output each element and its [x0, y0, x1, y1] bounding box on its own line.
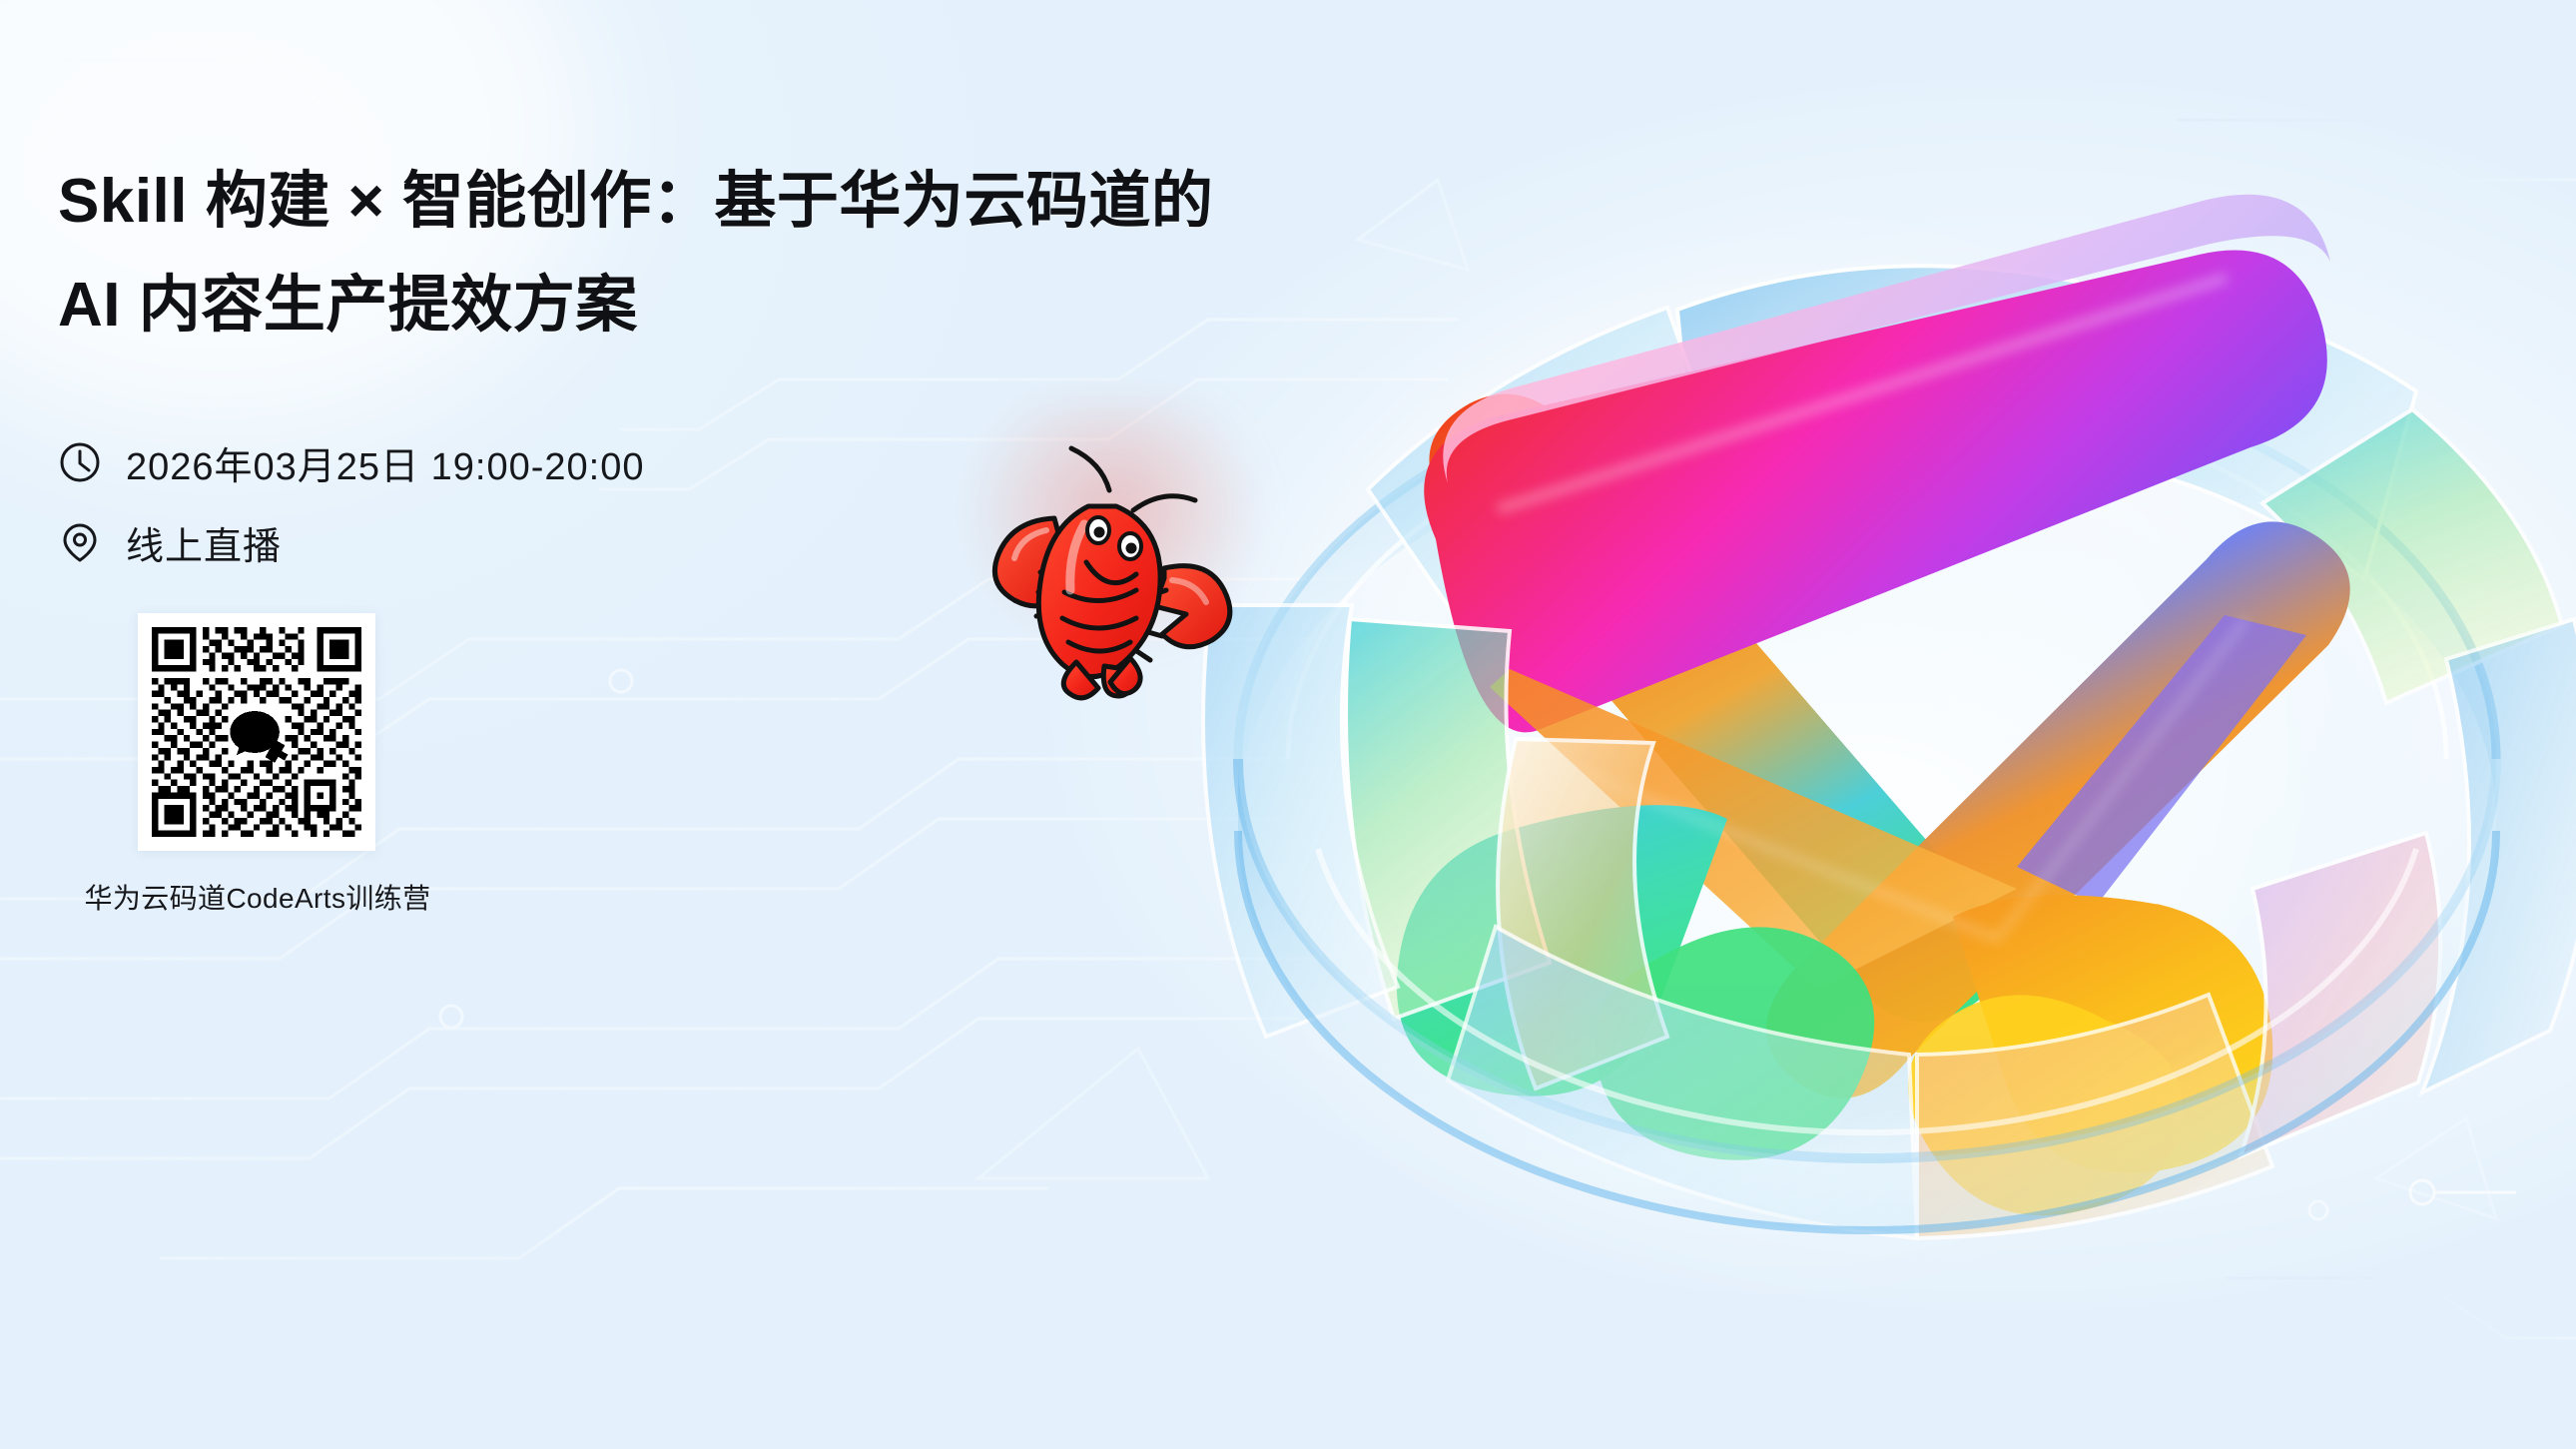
- poster-title-line1: Skill 构建 × 智能创作：基于华为云码道的: [58, 150, 1236, 254]
- qr-caption: 华为云码道CodeArts训练营: [76, 877, 439, 917]
- event-datetime-text: 2026年03月25日 19:00-20:00: [126, 435, 644, 490]
- poster-title-line2: AI 内容生产提效方案: [58, 254, 1236, 358]
- qr-code[interactable]: [138, 613, 375, 851]
- poster-root: Skill 构建 × 智能创作：基于华为云码道的 AI 内容生产提效方案 202…: [0, 0, 2576, 1449]
- event-location-text: 线上直播: [126, 515, 282, 570]
- location-pin-icon: [58, 520, 102, 564]
- lobster-sticker: [959, 414, 1248, 704]
- clock-icon: [58, 440, 102, 484]
- codearts-3d-artwork: [1118, 60, 2576, 1449]
